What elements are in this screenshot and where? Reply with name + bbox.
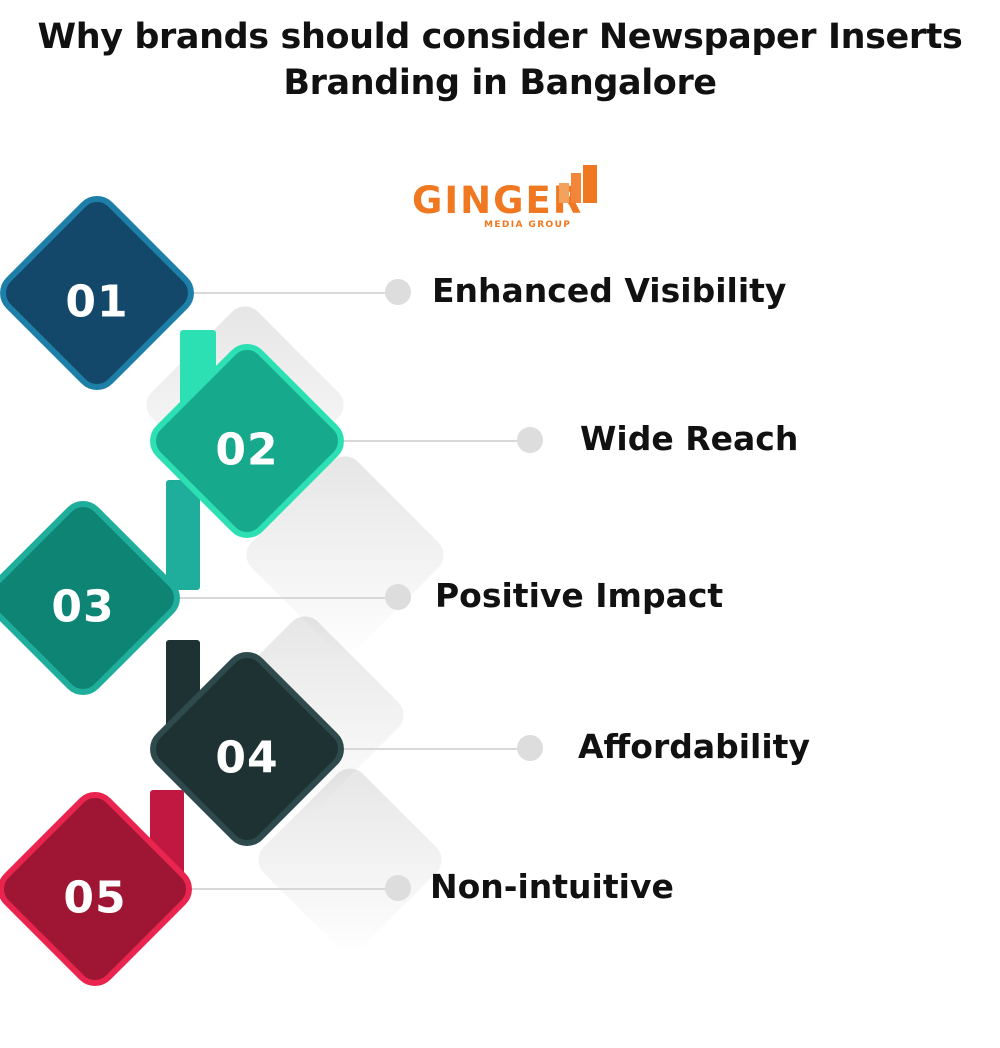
step-label-03: Positive Impact: [435, 576, 723, 615]
step-number-02: 02: [172, 374, 322, 524]
step-dot-02: [517, 427, 543, 453]
step-label-01: Enhanced Visibility: [432, 271, 786, 310]
connector-line: [160, 888, 395, 890]
connector-line: [175, 292, 395, 294]
step-number-01: 01: [22, 226, 172, 376]
steps-diagram: 01 Enhanced Visibility 02 Wide Reach 03 …: [0, 0, 1000, 1000]
step-dot-04: [517, 735, 543, 761]
step-diamond-01[interactable]: 01: [0, 187, 203, 399]
connector-line: [160, 597, 395, 599]
step-diamond-02[interactable]: 02: [141, 335, 353, 547]
step-dot-03: [385, 584, 411, 610]
step-number-03: 03: [8, 531, 158, 681]
step-number-05: 05: [20, 822, 170, 972]
step-label-04: Affordability: [578, 727, 810, 766]
step-dot-01: [385, 279, 411, 305]
step-label-05: Non-intuitive: [430, 867, 674, 906]
step-diamond-03[interactable]: 03: [0, 492, 189, 704]
step-number-04: 04: [172, 682, 322, 832]
step-dot-05: [385, 875, 411, 901]
step-label-02: Wide Reach: [580, 419, 798, 458]
